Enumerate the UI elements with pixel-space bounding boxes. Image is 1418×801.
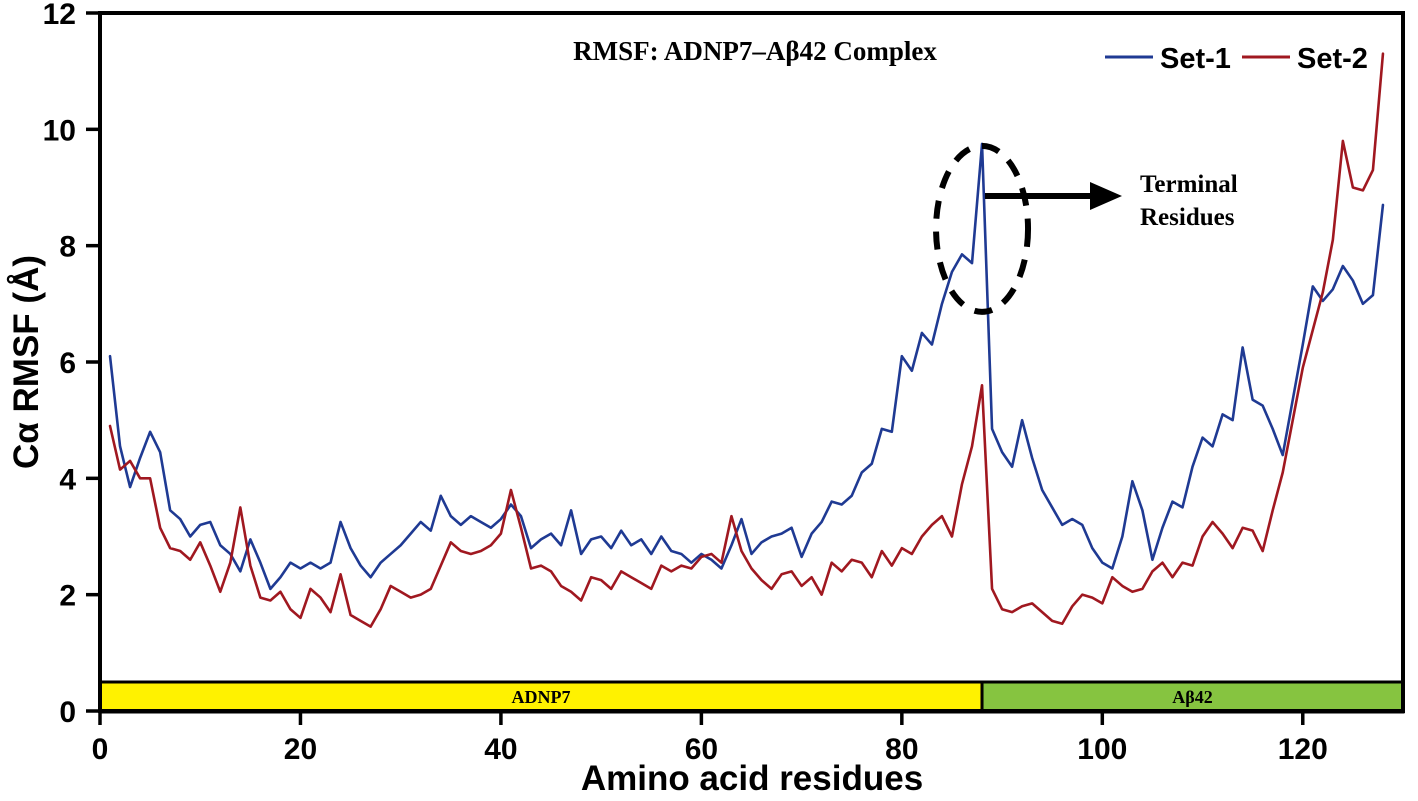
x-axis-ticks: 020406080100120 <box>92 711 1328 766</box>
rmsf-chart-figure: RMSF: ADNP7–Aβ42 Complex Set-1 Set-2 Ter… <box>0 0 1418 801</box>
x-tick-label: 20 <box>284 733 317 766</box>
y-tick-label: 2 <box>59 580 76 613</box>
chart-canvas: RMSF: ADNP7–Aβ42 Complex Set-1 Set-2 Ter… <box>0 0 1418 801</box>
x-tick-label: 40 <box>484 733 517 766</box>
x-tick-label: 120 <box>1278 733 1328 766</box>
legend-label-set-1: Set-1 <box>1160 43 1231 75</box>
domain-band-adnp7-label: ADNP7 <box>512 687 571 707</box>
chart-title: RMSF: ADNP7–Aβ42 Complex <box>573 36 937 66</box>
x-tick-label: 0 <box>92 733 109 766</box>
annotation-label-line1: Terminal <box>1140 171 1238 198</box>
y-tick-label: 10 <box>43 114 76 147</box>
domain-bands-group: ADNP7 Aβ42 <box>100 682 1403 712</box>
x-axis-title: Amino acid residues <box>581 759 923 798</box>
domain-band-abeta42-label: Aβ42 <box>1172 687 1212 707</box>
annotation-label-line2: Residues <box>1140 204 1235 231</box>
plot-area-background <box>100 13 1403 711</box>
y-tick-label: 8 <box>59 231 76 264</box>
y-tick-label: 0 <box>59 696 76 729</box>
y-tick-label: 12 <box>43 0 76 31</box>
y-tick-label: 6 <box>59 347 76 380</box>
x-tick-label: 100 <box>1077 733 1127 766</box>
y-axis-title: Cα RMSF (Å) <box>6 255 46 469</box>
y-axis-ticks: 024681012 <box>43 0 100 729</box>
y-tick-label: 4 <box>59 463 76 496</box>
legend-label-set-2: Set-2 <box>1297 43 1368 75</box>
